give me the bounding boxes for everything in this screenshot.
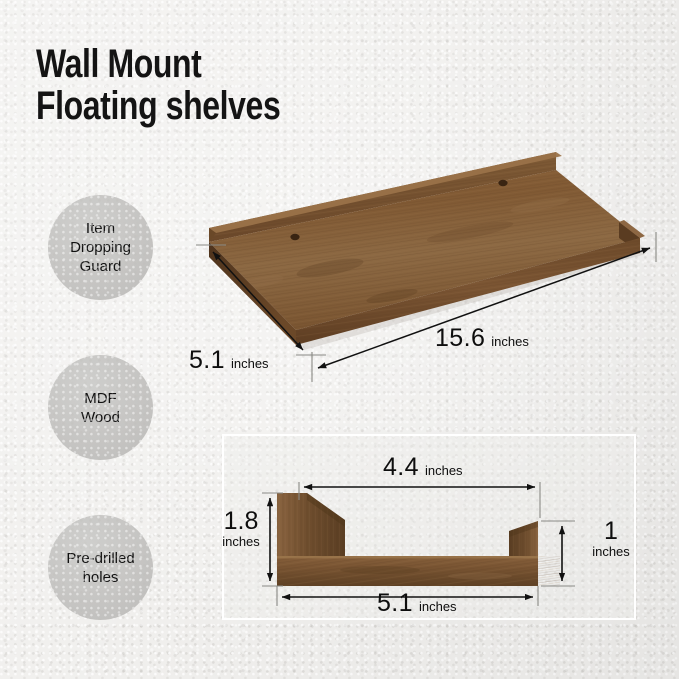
shelf-back-lip xyxy=(180,140,600,260)
label-back-height: 1.8 inches xyxy=(219,509,263,549)
dimension-line-width xyxy=(312,232,656,382)
feature-badge-item-dropping-guard: Item Dropping Guard xyxy=(48,195,153,300)
feature-line-2: Wood xyxy=(81,408,120,427)
shelf-depth-value: 5.1 xyxy=(189,348,225,373)
page-title: Wall Mount Floating shelves xyxy=(36,44,280,126)
feature-line-1: Pre-drilled xyxy=(66,549,134,568)
title-line-2: Floating shelves xyxy=(36,86,280,126)
feature-line-1: MDF xyxy=(81,389,120,408)
shelf-left-end xyxy=(209,228,296,345)
inner-width-unit: inches xyxy=(425,464,463,477)
back-height-unit: inches xyxy=(219,534,263,549)
shelf-width-value: 15.6 xyxy=(435,326,485,351)
label-front-height: 1 inches xyxy=(588,519,634,559)
label-shelf-depth: 5.1 inches xyxy=(189,348,269,373)
shelf-top-surface xyxy=(190,160,660,350)
inner-width-value: 4.4 xyxy=(383,455,419,480)
feature-badge-text: MDF Wood xyxy=(75,389,126,427)
title-line-1: Wall Mount xyxy=(36,42,201,86)
feature-line-2: holes xyxy=(66,568,134,587)
feature-line-1: Item xyxy=(70,219,131,238)
front-height-unit: inches xyxy=(588,544,634,559)
feature-badge-text: Pre-drilled holes xyxy=(60,549,140,587)
feature-line-2: Dropping xyxy=(70,238,131,257)
shelf-depth-unit: inches xyxy=(231,357,269,370)
back-height-value: 1.8 xyxy=(219,509,263,534)
feature-badge-mdf-wood: MDF Wood xyxy=(48,355,153,460)
shelf-width-unit: inches xyxy=(491,335,529,348)
label-shelf-width: 15.6 inches xyxy=(435,326,529,351)
product-infographic: Wall Mount Floating shelves Item Droppin… xyxy=(0,0,679,679)
dimension-line-depth xyxy=(196,245,326,355)
label-total-width: 5.1 inches xyxy=(377,591,457,616)
shelf-front-lip xyxy=(619,220,645,253)
pre-drilled-hole-left xyxy=(290,234,299,240)
feature-badge-text: Item Dropping Guard xyxy=(64,219,137,276)
total-width-unit: inches xyxy=(419,600,457,613)
pre-drilled-hole-right xyxy=(498,180,507,186)
front-height-value: 1 xyxy=(588,519,634,544)
label-inner-width: 4.4 inches xyxy=(383,455,463,480)
feature-badge-pre-drilled-holes: Pre-drilled holes xyxy=(48,515,153,620)
feature-line-3: Guard xyxy=(70,257,131,276)
total-width-value: 5.1 xyxy=(377,591,413,616)
